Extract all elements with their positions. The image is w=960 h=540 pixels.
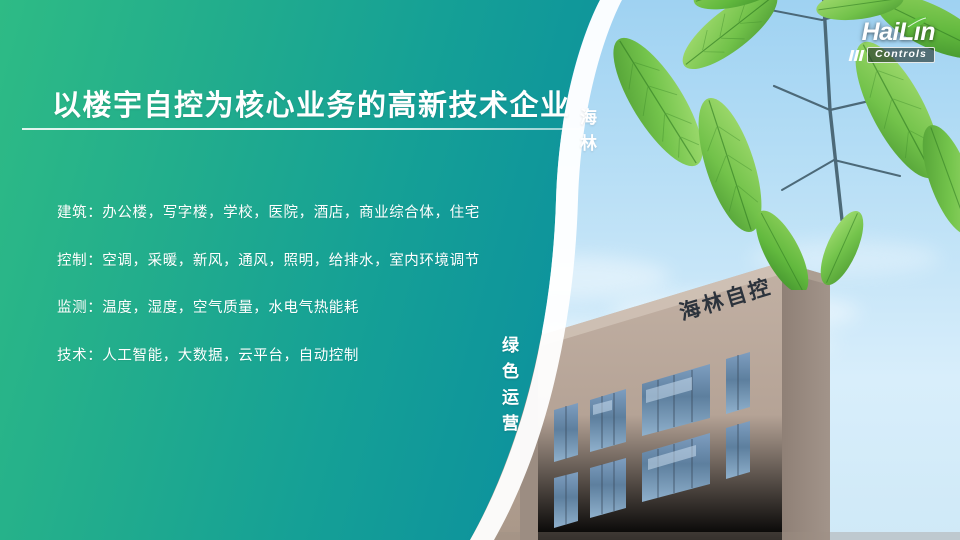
- logo-tagline: Controls: [867, 47, 935, 63]
- hailin-logo[interactable]: HaiLin Controls: [815, 19, 935, 65]
- vertical-brand-text: 海林: [578, 108, 595, 160]
- slide-content: 以楼宇自控为核心业务的高新技术企业 建筑：办公楼，写字楼，学校，医院，酒店，商业…: [0, 0, 600, 540]
- list-item: 技术：人工智能，大数据，云平台，自动控制: [57, 349, 527, 364]
- leaf-icon: [906, 16, 928, 29]
- list-item: 建筑：办公楼，写字楼，学校，医院，酒店，商业综合体，住宅: [57, 206, 527, 221]
- list-item: 监测：温度，湿度，空气质量，水电气热能耗: [57, 301, 527, 316]
- title-divider: [22, 128, 580, 130]
- list-item: 控制：空调，采暖，新风，通风，照明，给排水，室内环境调节: [57, 254, 527, 269]
- bullet-list: 建筑：办公楼，写字楼，学校，医院，酒店，商业综合体，住宅 控制：空调，采暖，新风…: [57, 206, 527, 396]
- three-bars-icon: [850, 50, 863, 61]
- vertical-slogan-text: 绿色运营: [500, 336, 517, 440]
- page-title: 以楼宇自控为核心业务的高新技术企业: [52, 82, 571, 124]
- slide-canvas: 海林自控: [0, 0, 960, 540]
- logo-subrow: Controls: [815, 47, 935, 63]
